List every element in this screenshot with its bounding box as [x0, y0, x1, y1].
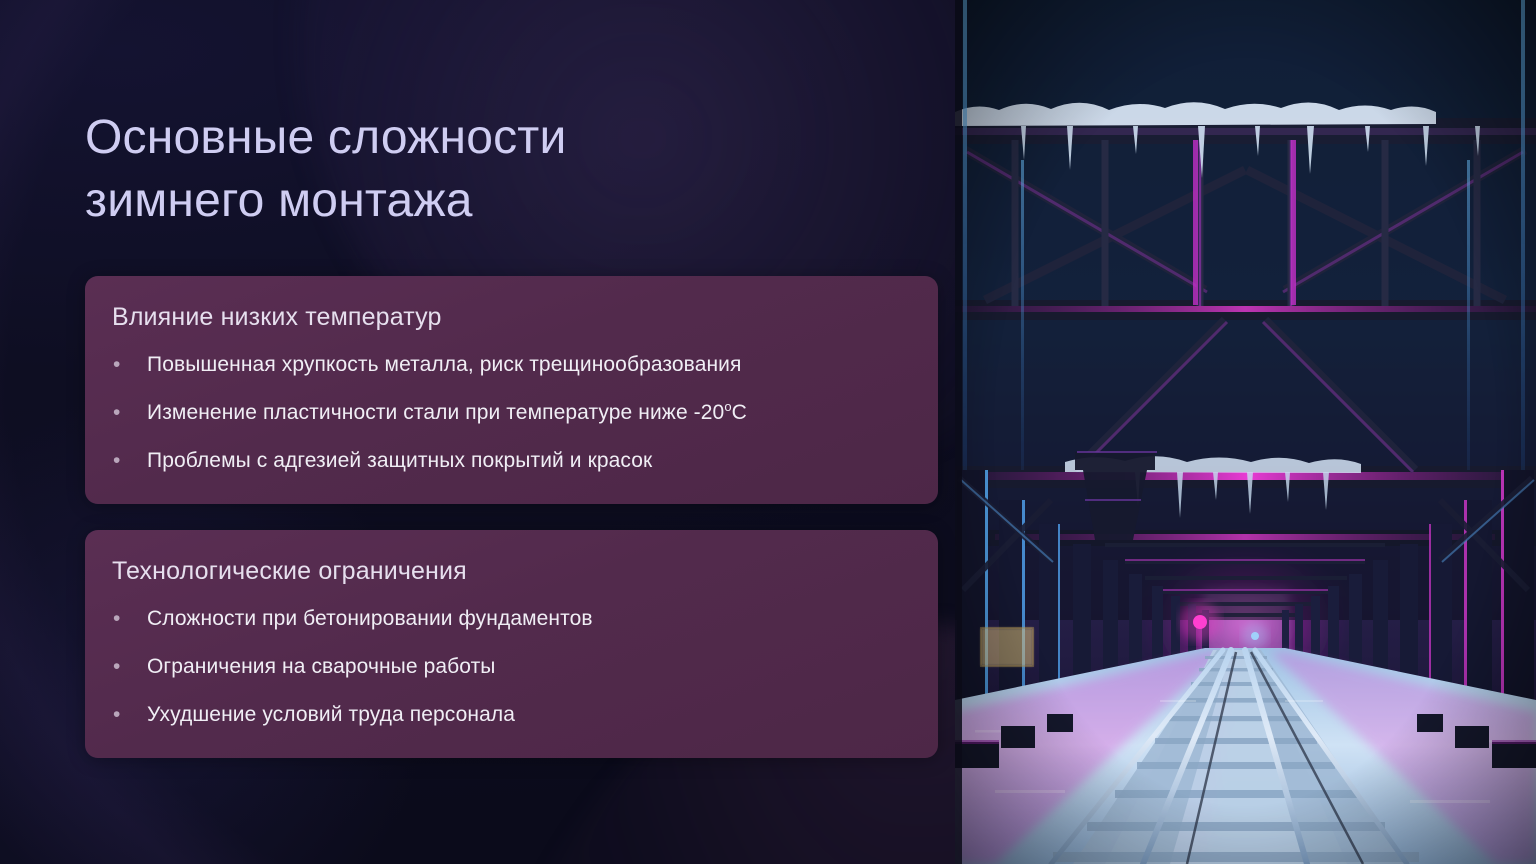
card-title: Влияние низких температур	[112, 302, 908, 332]
list-item: • Ухудшение условий труда персонала	[112, 700, 908, 729]
list-item: • Изменение пластичности стали при темпе…	[112, 398, 908, 427]
bullet-text: Проблемы с адгезией защитных покрытий и …	[147, 446, 652, 475]
bullet-dot-icon: •	[112, 398, 147, 427]
list-item: • Проблемы с адгезией защитных покрытий …	[112, 446, 908, 475]
bullet-text: Повышенная хрупкость металла, риск трещи…	[147, 350, 741, 379]
bullet-list: • Сложности при бетонировании фундаменто…	[112, 604, 908, 729]
bullet-dot-icon: •	[112, 604, 147, 633]
bullet-text: Ограничения на сварочные работы	[147, 652, 496, 681]
bullet-text-main: Изменение пластичности стали при темпера…	[147, 401, 724, 424]
bullet-list: • Повышенная хрупкость металла, риск тре…	[112, 350, 908, 475]
card-technological-limitations: Технологические ограничения • Сложности …	[85, 530, 938, 758]
bullet-text: Ухудшение условий труда персонала	[147, 700, 515, 729]
bullet-dot-icon: •	[112, 652, 147, 681]
list-item: • Сложности при бетонировании фундаменто…	[112, 604, 908, 633]
photo-winter-steel-structure	[955, 0, 1536, 864]
bullet-dot-icon: •	[112, 350, 147, 379]
bullet-text: Сложности при бетонировании фундаментов	[147, 604, 593, 633]
content-column: Основные сложности зимнего монтажа Влиян…	[85, 0, 940, 864]
bullet-text: Изменение пластичности стали при темпера…	[147, 398, 747, 427]
card-low-temperature-impact: Влияние низких температур • Повышенная х…	[85, 276, 938, 504]
bullet-text-tail: С	[732, 401, 747, 424]
bullet-dot-icon: •	[112, 700, 147, 729]
photo-illustration	[955, 0, 1536, 864]
list-item: • Ограничения на сварочные работы	[112, 652, 908, 681]
bullet-dot-icon: •	[112, 446, 147, 475]
card-title: Технологические ограничения	[112, 556, 908, 586]
degree-symbol: о	[724, 399, 731, 414]
slide: Основные сложности зимнего монтажа Влиян…	[0, 0, 1536, 864]
page-title: Основные сложности зимнего монтажа	[85, 106, 845, 233]
list-item: • Повышенная хрупкость металла, риск тре…	[112, 350, 908, 379]
